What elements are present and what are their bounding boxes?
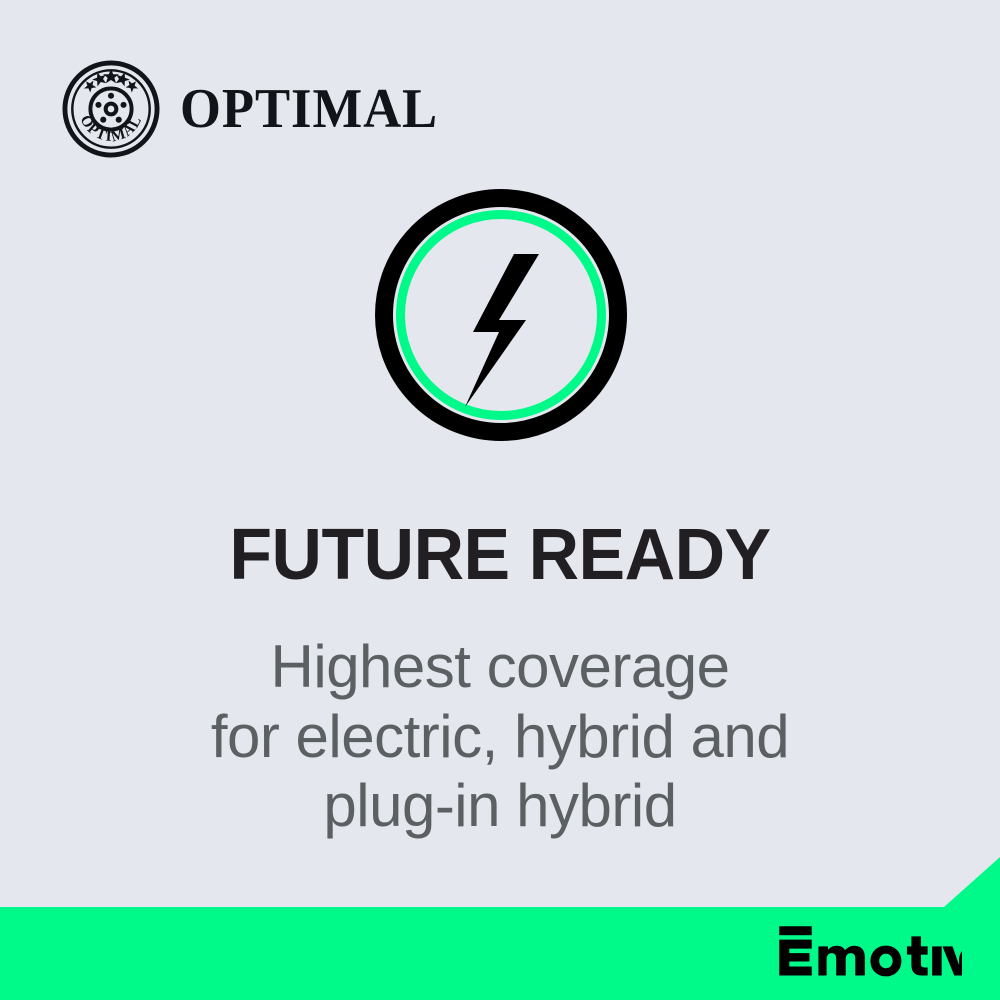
footer-diagonal-wedge bbox=[944, 857, 1000, 907]
footer-bar bbox=[0, 907, 1000, 1000]
optimal-seal-icon: OPTIMAL bbox=[62, 60, 160, 158]
subtitle-line-2: for electric, hybrid and bbox=[0, 702, 1000, 772]
subtitle-line-1: Highest coverage bbox=[0, 632, 1000, 702]
brand-wordmark: OPTIMAL bbox=[180, 81, 438, 137]
lightning-bolt-icon bbox=[465, 254, 539, 407]
page-subtitle: Highest coverage for electric, hybrid an… bbox=[0, 632, 1000, 841]
future-ready-badge bbox=[375, 189, 627, 441]
page-title: FUTURE READY bbox=[15, 519, 985, 591]
brand-header: OPTIMAL OPTIMAL bbox=[62, 60, 455, 158]
poster-canvas: OPTIMAL OPTIMAL bbox=[0, 0, 1000, 1000]
emotive-wordmark-icon bbox=[777, 924, 962, 980]
subtitle-line-3: plug-in hybrid bbox=[0, 771, 1000, 841]
